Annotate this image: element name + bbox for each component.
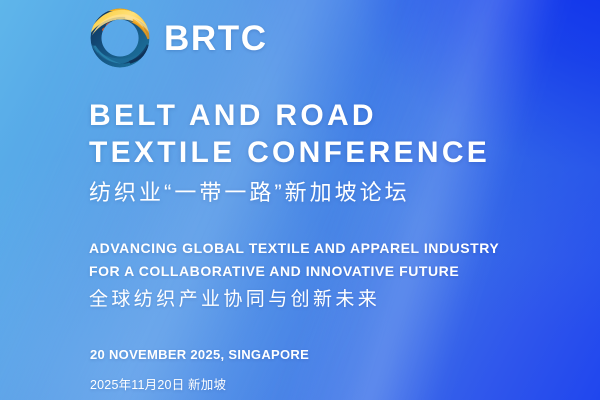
tagline-line1: ADVANCING GLOBAL TEXTILE AND APPAREL IND…: [89, 237, 499, 260]
event-date-english: 20 NOVEMBER 2025, SINGAPORE: [90, 347, 309, 362]
page-title-chinese: 纺织业“一带一路”新加坡论坛: [89, 180, 410, 206]
tagline-line2: FOR A COLLABORATIVE AND INNOVATIVE FUTUR…: [89, 260, 499, 283]
conference-poster: BRTC BELT AND ROAD TEXTILE CONFERENCE 纺织…: [0, 0, 600, 400]
tagline: ADVANCING GLOBAL TEXTILE AND APPAREL IND…: [89, 237, 499, 283]
tagline-chinese: 全球纺织产业协同与创新未来: [89, 289, 380, 312]
page-title: BELT AND ROAD TEXTILE CONFERENCE: [89, 97, 490, 171]
brand-lockup: BRTC: [88, 6, 268, 70]
brtc-swirl-circle-logo-icon: [88, 6, 152, 70]
event-date-chinese: 2025年11月20日 新加坡: [90, 374, 226, 393]
page-title-line1: BELT AND ROAD: [89, 97, 490, 134]
page-title-line2: TEXTILE CONFERENCE: [89, 134, 490, 171]
poster-content: BRTC BELT AND ROAD TEXTILE CONFERENCE 纺织…: [0, 0, 600, 400]
brtc-wordmark: BRTC: [164, 21, 268, 56]
